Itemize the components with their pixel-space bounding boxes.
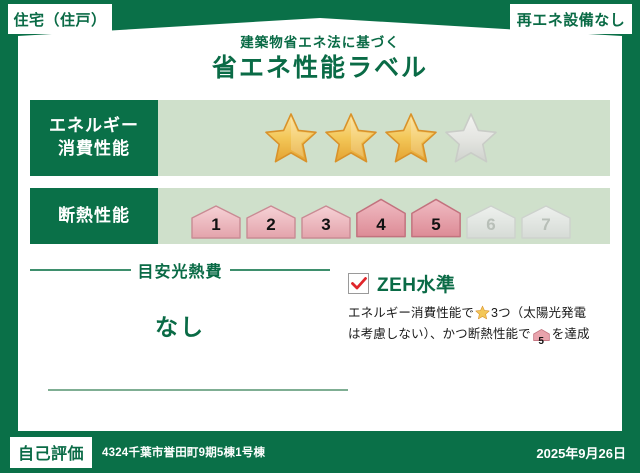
property-address: 4324千葉市誉田町9期5棟1号棟: [102, 444, 265, 460]
zeh-desc-part1: エネルギー消費性能で: [348, 306, 474, 320]
insulation-badge-3: 3: [300, 204, 352, 240]
zeh-title: ZEH水準: [377, 270, 456, 297]
insulation-level-scale: 1 2 3: [190, 192, 572, 240]
insulation-badge-4: 4: [355, 196, 407, 240]
utility-cost-title: 目安光熱費: [138, 258, 223, 282]
star-icon-filled-3: [383, 111, 439, 165]
cost-rule-left: [30, 269, 131, 271]
utility-cost-header: 目安光熱費: [30, 258, 330, 282]
footer-bar: 自己評価 4324千葉市誉田町9期5棟1号棟 2025年9月26日: [0, 431, 640, 473]
section-divider: [48, 389, 348, 391]
energy-performance-label: エネルギー 消費性能: [30, 100, 158, 176]
zeh-description: エネルギー消費性能で3つ（太陽光発電は考慮しない）、かつ断熱性能で5を達成: [348, 303, 610, 348]
zeh-header: ZEH水準: [348, 270, 610, 297]
utility-cost-value: なし: [30, 308, 330, 342]
insulation-badge-6: 6: [465, 204, 517, 240]
insulation-badge-2: 2: [245, 204, 297, 240]
utility-cost-section: 目安光熱費 なし: [30, 256, 330, 348]
housing-type-tag: 住宅（住戸）: [8, 4, 112, 34]
insulation-badge-5: 5: [410, 196, 462, 240]
insulation-label-text: 断熱性能: [58, 205, 130, 228]
insulation-performance-row: 断熱性能 1: [30, 188, 610, 244]
content-area: エネルギー 消費性能: [30, 100, 610, 348]
insulation-performance-label: 断熱性能: [30, 188, 158, 244]
zeh-section: ZEH水準 エネルギー消費性能で3つ（太陽光発電は考慮しない）、かつ断熱性能で5…: [330, 256, 610, 348]
self-evaluation-badge: 自己評価: [10, 437, 92, 468]
star-rating: [263, 111, 499, 165]
star-icon-empty-4: [443, 111, 499, 165]
check-icon: [351, 277, 367, 291]
zeh-desc-part4: を達成: [552, 327, 590, 341]
energy-label-line2: 消費性能: [58, 138, 130, 161]
energy-performance-row: エネルギー 消費性能: [30, 100, 610, 176]
zeh-checkbox[interactable]: [348, 273, 369, 294]
insulation-badge-7: 7: [520, 204, 572, 240]
renewable-equipment-tag: 再エネ設備なし: [510, 4, 632, 34]
star-icon-inline: [475, 305, 490, 320]
star-icon-filled-1: [263, 111, 319, 165]
zeh-desc-part3: は考慮しない）、かつ断熱性能で: [348, 327, 531, 341]
lower-section: 目安光熱費 なし ZEH水準 エネルギー消費性能で3つ（太陽光発電は考慮しない）…: [30, 256, 610, 348]
insulation-badges-body: 1 2 3: [158, 188, 610, 244]
star-icon-filled-2: [323, 111, 379, 165]
cost-rule-right: [230, 269, 331, 271]
insulation-badge-inline: 5: [533, 328, 550, 349]
insulation-badge-inline-value: 5: [533, 337, 550, 347]
energy-performance-label: 住宅（住戸） 再エネ設備なし 建築物省エネ法に基づく 省エネ性能ラベル エネルギ…: [0, 0, 640, 473]
issue-date: 2025年9月26日: [536, 443, 626, 462]
energy-stars-body: [158, 100, 610, 176]
zeh-desc-part2: 3つ（太陽光発電: [491, 306, 586, 320]
energy-label-line1: エネルギー: [49, 115, 139, 138]
insulation-badge-1: 1: [190, 204, 242, 240]
